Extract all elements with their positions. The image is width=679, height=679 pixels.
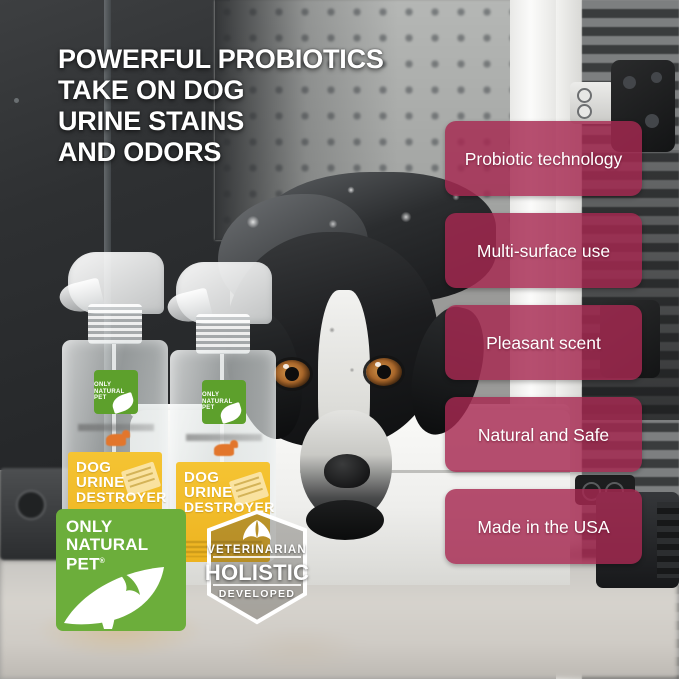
- bottle-title-line3: DESTROYER: [76, 490, 162, 504]
- veterinarian-holistic-developed-badge: VETERINARIAN HOLISTIC DEVELOPED: [199, 508, 315, 626]
- feature-badge-multi-surface-use: Multi-surface use: [445, 213, 642, 288]
- headline-line-1: POWERFUL PROBIOTICS: [58, 44, 488, 75]
- bottle-brand-logo-box: ONLY NATURAL PET: [202, 380, 246, 424]
- dog-chin: [306, 500, 384, 540]
- holistic-badge-top-text: VETERINARIAN: [199, 544, 315, 556]
- latch-bolt: [623, 76, 636, 89]
- feature-badge-made-in-the-usa: Made in the USA: [445, 489, 642, 564]
- dog-nose: [324, 454, 370, 488]
- bottle-neck: [196, 314, 250, 354]
- holistic-badge-text: VETERINARIAN HOLISTIC DEVELOPED: [199, 508, 315, 626]
- appliance-vent-stripes: [657, 502, 679, 578]
- headline: POWERFUL PROBIOTICS TAKE ON DOG URINE ST…: [58, 44, 488, 168]
- leaf-with-pets-icon: [56, 561, 186, 631]
- bottle-subtitle-blur: [186, 434, 262, 441]
- headline-line-2: TAKE ON DOG: [58, 75, 488, 106]
- bottle-neck: [88, 304, 142, 344]
- feature-badge-pleasant-scent: Pleasant scent: [445, 305, 642, 380]
- bottle-subtitle-blur: [78, 424, 154, 431]
- bottle-brand-logo-box: ONLY NATURAL PET: [94, 370, 138, 414]
- feature-badge-list: Probiotic technology Multi-surface use P…: [445, 121, 642, 564]
- orange-dog-icon: [214, 444, 234, 456]
- feature-badge-natural-and-safe: Natural and Safe: [445, 397, 642, 472]
- latch-hole: [577, 104, 592, 119]
- product-marketing-image: ONLY NATURAL PET DOG URINE DESTROYER ONL…: [0, 0, 679, 679]
- brand-logo-line-2: NATURAL: [66, 536, 148, 554]
- brand-logo-line-1: ONLY: [66, 518, 148, 536]
- dog-eye-glint: [283, 364, 289, 369]
- headline-line-4: AND ODORS: [58, 137, 488, 168]
- orange-dog-icon: [106, 434, 126, 446]
- latch-bolt: [651, 72, 662, 83]
- crate-latch-plate: [570, 82, 615, 124]
- brand-logo: ONLY NATURAL PET®: [56, 509, 186, 631]
- dog-eye-glint: [375, 362, 381, 367]
- holistic-badge-bottom-text: DEVELOPED: [199, 588, 315, 600]
- latch-hole: [577, 88, 592, 103]
- equipment-knob: [16, 490, 46, 520]
- crate-rivet: [14, 98, 19, 103]
- headline-line-3: URINE STAINS: [58, 106, 488, 137]
- dog-pupil: [377, 365, 391, 379]
- holistic-badge-main-text: HOLISTIC: [199, 560, 315, 586]
- product-bottle-back: ONLY NATURAL PET DOG URINE DESTROYER: [60, 252, 170, 552]
- dog-pupil: [285, 367, 299, 381]
- latch-bolt: [645, 114, 659, 128]
- dog-eye-right: [366, 358, 402, 386]
- feature-badge-probiotic-technology: Probiotic technology: [445, 121, 642, 196]
